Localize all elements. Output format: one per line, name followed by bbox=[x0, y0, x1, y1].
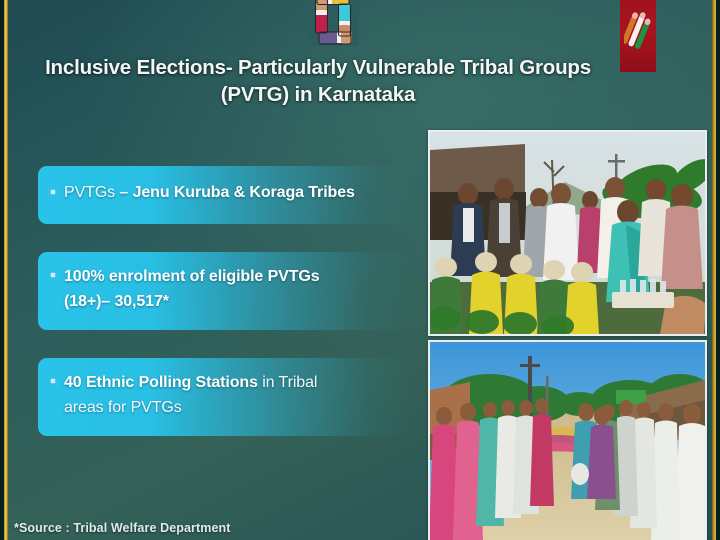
bullet-box-enrolment: 100% enrolment of eligible PVTGs (18+)– … bbox=[38, 252, 416, 330]
election-commission-of-india-logo bbox=[620, 0, 656, 72]
slide-title-line-2: (PVTG) in Karnataka bbox=[18, 81, 618, 108]
presentation-slide: Inclusive Elections- Particularly Vulner… bbox=[0, 0, 720, 540]
bullet-text-1: PVTGs – Jenu Kuruba & Koraga Tribes bbox=[64, 166, 355, 205]
bullet-3-segment-1: 40 Ethnic Polling Stations bbox=[64, 374, 262, 391]
bullet-text-2: 100% enrolment of eligible PVTGs (18+)– … bbox=[64, 252, 320, 314]
bullet-box-pvtg-tribes: PVTGs – Jenu Kuruba & Koraga Tribes bbox=[38, 166, 416, 224]
photo-village-road-gathering bbox=[428, 340, 707, 540]
square-bullet-icon bbox=[51, 273, 55, 277]
photo-tribal-community-group bbox=[428, 130, 707, 336]
source-note: *Source : Tribal Welfare Department bbox=[14, 521, 231, 535]
bullet-box-polling-stations: 40 Ethnic Polling Stations in Tribal are… bbox=[38, 358, 416, 436]
interlocked-hands-unity-icon bbox=[307, 0, 359, 46]
bullet-3-line-2: areas for PVTGs bbox=[64, 395, 317, 420]
bullet-2-line-2: (18+)– 30,517* bbox=[64, 289, 320, 314]
slide-edge-left bbox=[0, 0, 4, 540]
bullet-1-segment-2: – Jenu Kuruba & Koraga Tribes bbox=[119, 184, 354, 201]
slide-edge-right bbox=[716, 0, 720, 540]
bullet-3-line-1: 40 Ethnic Polling Stations in Tribal bbox=[64, 370, 317, 395]
slide-title: Inclusive Elections- Particularly Vulner… bbox=[18, 54, 618, 108]
square-bullet-icon bbox=[51, 379, 55, 383]
square-bullet-icon bbox=[51, 190, 55, 194]
bullet-text-3: 40 Ethnic Polling Stations in Tribal are… bbox=[64, 358, 317, 420]
bullet-1-segment-1: PVTGs bbox=[64, 184, 119, 201]
slide-title-line-1: Inclusive Elections- Particularly Vulner… bbox=[45, 56, 591, 79]
bullet-3-segment-2: in Tribal bbox=[262, 374, 317, 391]
bullet-2-line-1: 100% enrolment of eligible PVTGs bbox=[64, 264, 320, 289]
